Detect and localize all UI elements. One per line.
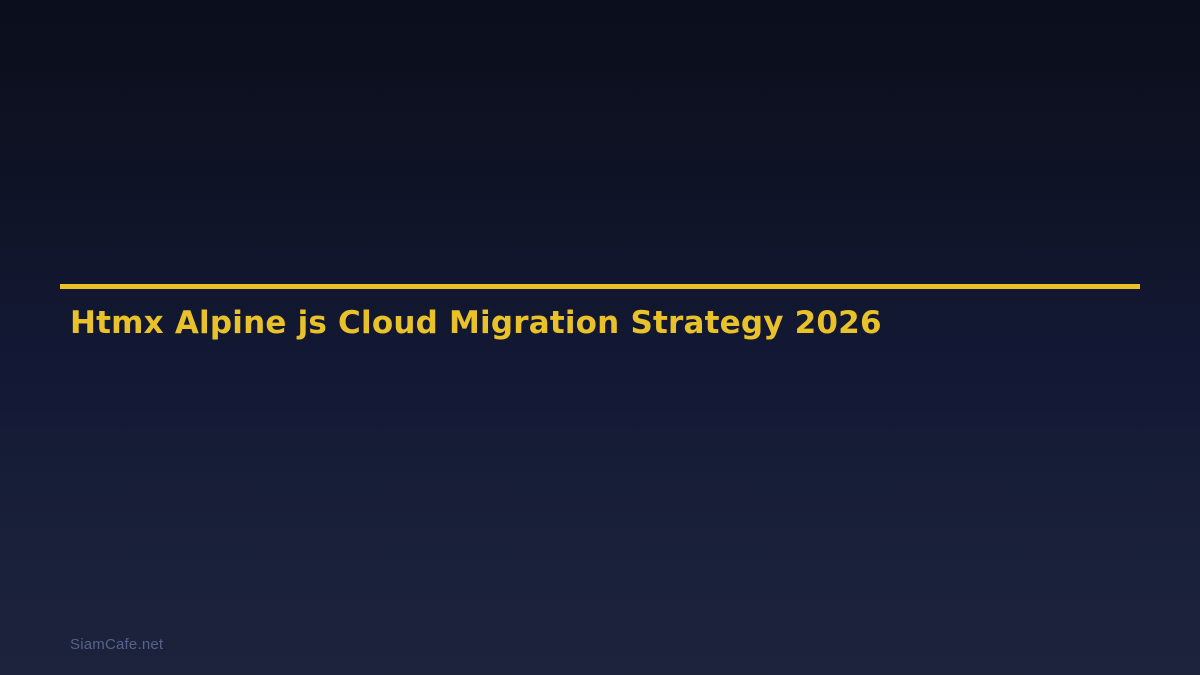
slide-footer: SiamCafe.net <box>70 634 163 653</box>
footer-brand-label: SiamCafe.net <box>70 636 163 653</box>
title-block: Htmx Alpine js Cloud Migration Strategy … <box>60 284 1140 342</box>
page-title: Htmx Alpine js Cloud Migration Strategy … <box>60 289 1140 342</box>
presentation-slide: Htmx Alpine js Cloud Migration Strategy … <box>0 0 1200 675</box>
